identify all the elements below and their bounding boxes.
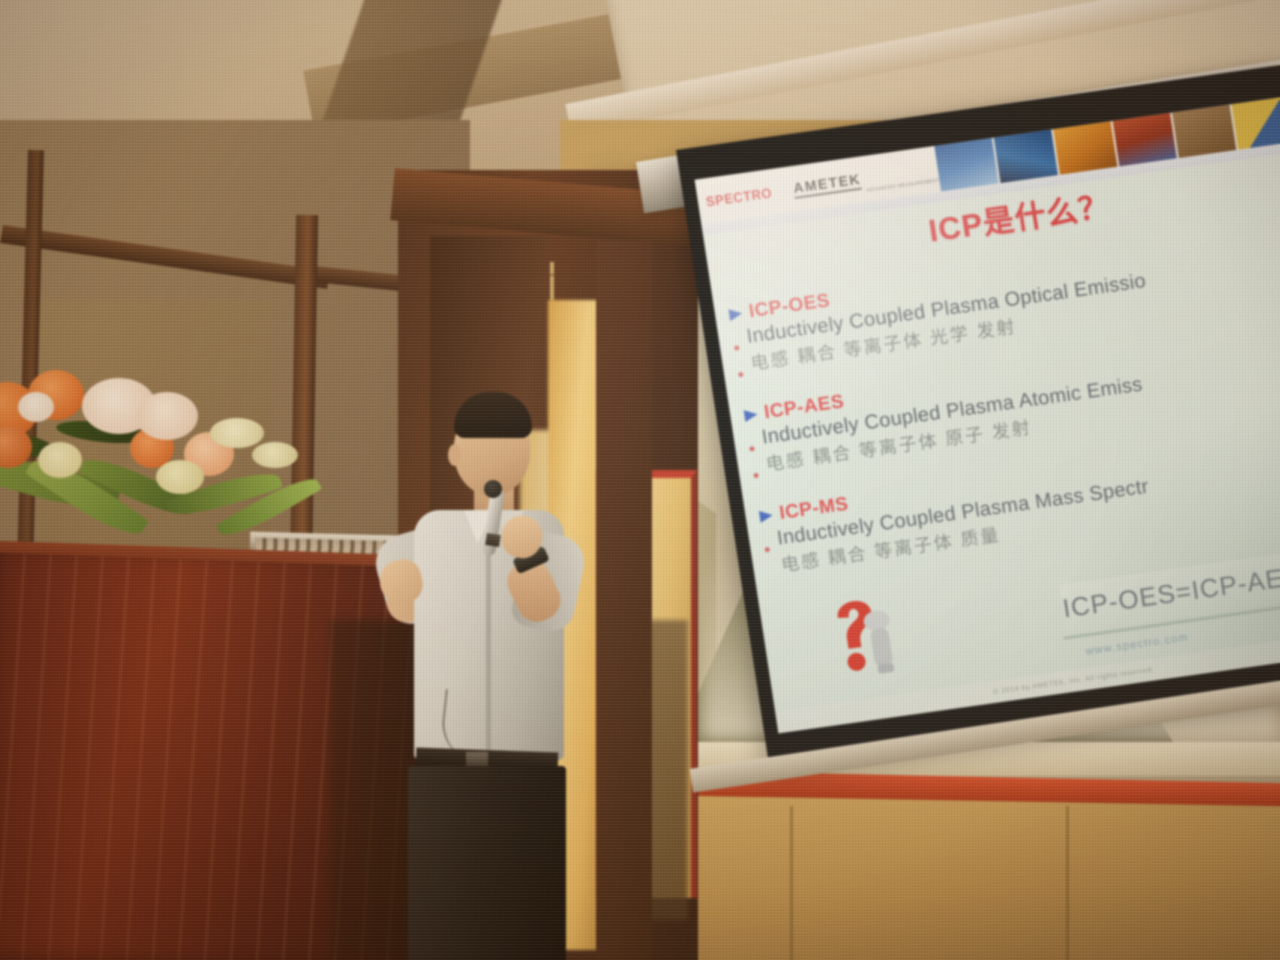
white-lily — [18, 392, 54, 422]
question-mark-figure-icon — [820, 583, 911, 685]
dot-bullet-icon — [764, 547, 770, 553]
cream-blossom — [156, 460, 204, 494]
thumb-brown-metal — [1171, 97, 1237, 158]
thumb-red-industrial — [1111, 105, 1177, 166]
equation-text: ICP-OES=ICP-AE — [1061, 562, 1280, 624]
wainscot-seam — [1066, 806, 1069, 960]
projection-screen: SPECTRO AMETEK ADVANCED MEASUREMENT TECH… — [676, 64, 1280, 763]
thumb-yellow-blue — [1230, 96, 1280, 150]
presentation-slide: SPECTRO AMETEK ADVANCED MEASUREMENT TECH… — [695, 96, 1280, 733]
slide-footer-url: www.spectro.com — [1085, 631, 1190, 657]
cream-blossom — [38, 442, 82, 478]
microphone-grip-band — [485, 533, 501, 547]
floral-arrangement — [0, 370, 400, 590]
ametek-logo: AMETEK — [792, 170, 862, 198]
equation-box: ICP-OES=ICP-AE — [1059, 539, 1280, 632]
spectro-logo: SPECTRO — [705, 184, 773, 209]
white-lily — [136, 392, 198, 440]
thumb-orange-flame — [1052, 113, 1118, 174]
wainscot-seam — [790, 806, 793, 960]
dot-bullet-icon — [749, 446, 755, 452]
cream-blossom — [252, 442, 298, 468]
dot-bullet-icon — [734, 345, 740, 351]
presentation-photo-scene: SPECTRO AMETEK ADVANCED MEASUREMENT TECH… — [0, 0, 1280, 960]
doorway-right-column — [596, 240, 652, 960]
arrow-bullet-icon — [744, 408, 759, 422]
presenter-belt-buckle — [466, 752, 488, 767]
thumb-blue-sky — [933, 130, 999, 191]
arrow-bullet-icon — [728, 307, 743, 321]
presenter-hair — [454, 392, 532, 438]
slide-footer-copyright-text: © 2014 by AMETEK, Inc. All rights reserv… — [993, 666, 1155, 696]
presenter — [362, 392, 592, 960]
presenter-trousers — [408, 766, 566, 960]
thumb-blue-instrument — [993, 122, 1059, 183]
arrow-bullet-icon — [759, 509, 774, 523]
dot-bullet-icon — [738, 372, 744, 378]
presenter-ear — [448, 444, 461, 466]
dot-bullet-icon — [753, 473, 759, 479]
cream-blossom — [210, 418, 264, 448]
